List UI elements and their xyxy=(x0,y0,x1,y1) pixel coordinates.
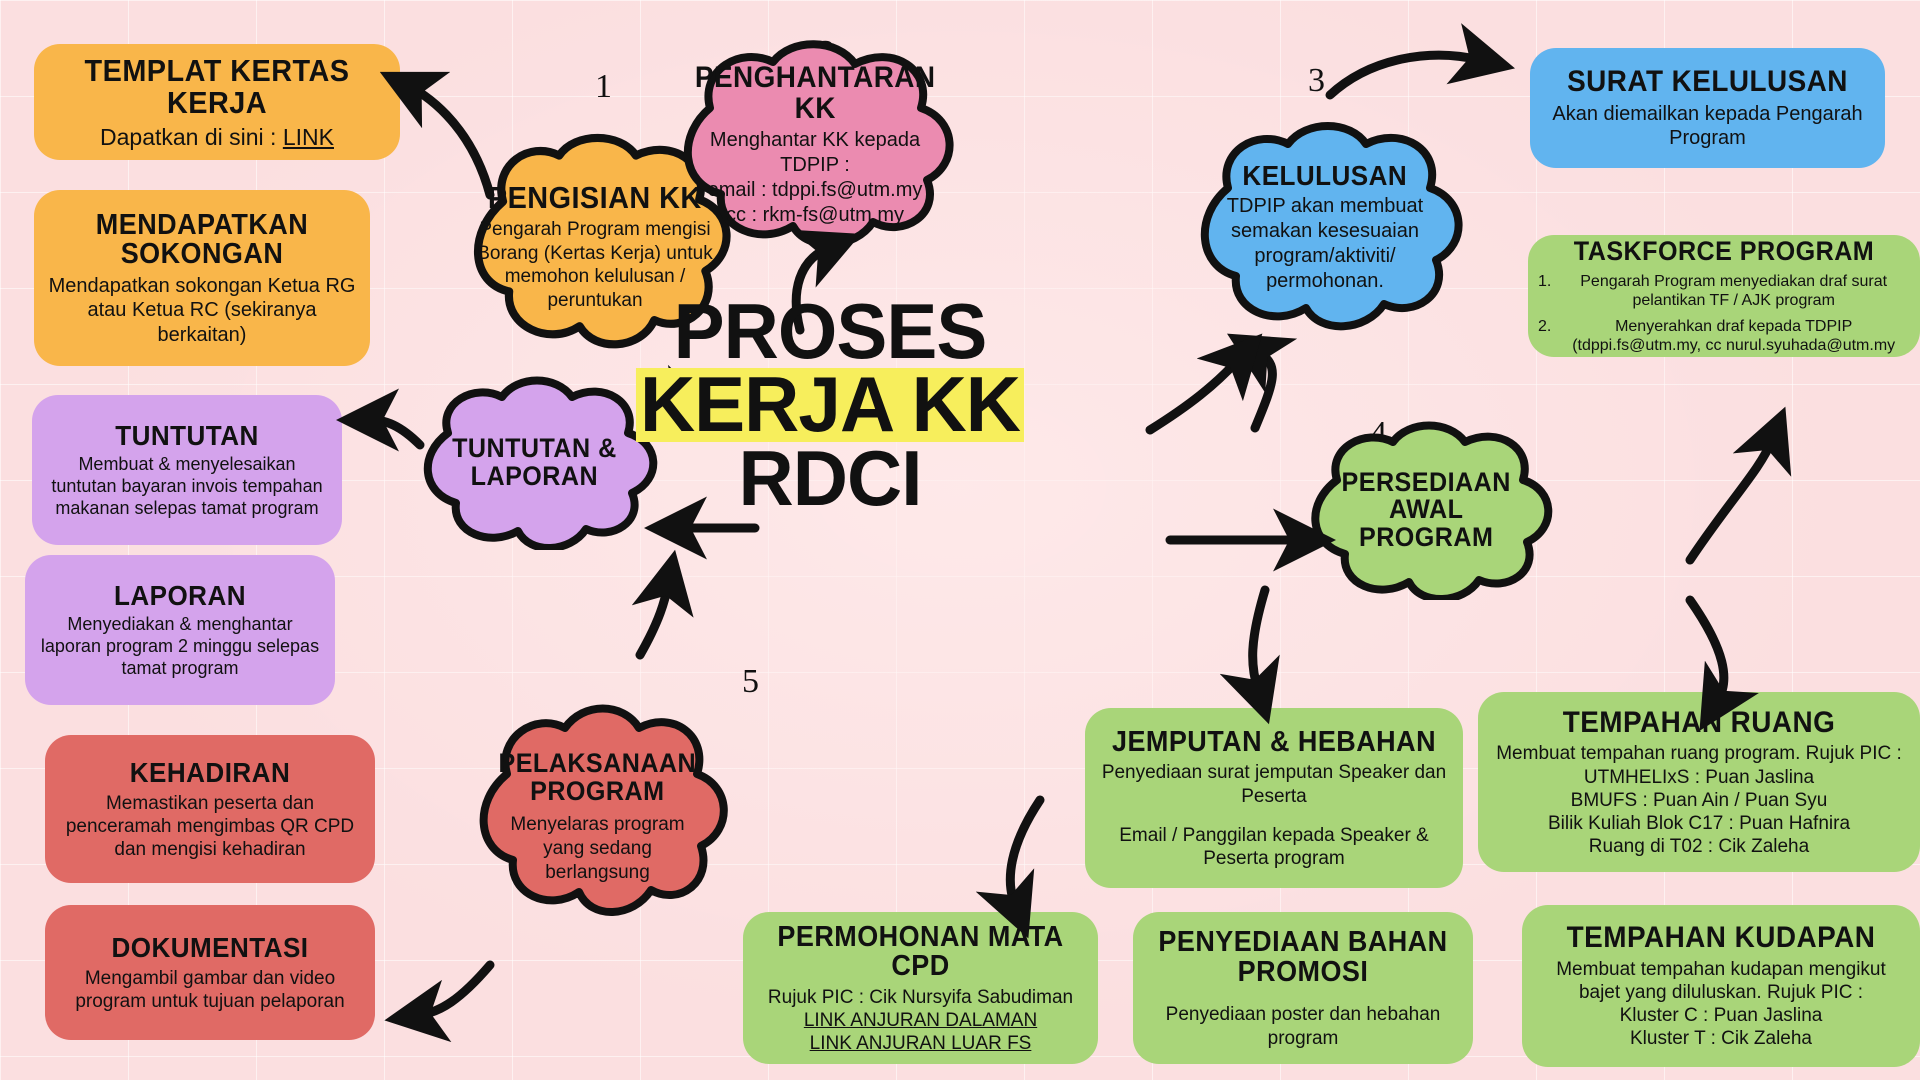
cloud-title: TUNTUTAN & LAPORAN xyxy=(438,435,630,490)
card-tempahan-kudapan: TEMPAHAN KUDAPAN Membuat tempahan kudapa… xyxy=(1522,905,1920,1067)
title-line-2: KERJA KK xyxy=(636,368,1024,441)
card-title: TEMPLAT KERTAS KERJA xyxy=(60,55,374,118)
list-text: Pengarah Program menyediakan draf surat … xyxy=(1557,272,1910,311)
card-body: Membuat tempahan kudapan mengikut bajet … xyxy=(1536,958,1906,1051)
card-jemputan-hebahan: JEMPUTAN & HEBAHAN Penyediaan surat jemp… xyxy=(1085,708,1463,888)
card-body: Dapatkan di sini : LINK xyxy=(48,123,386,151)
templat-link[interactable]: LINK xyxy=(283,124,334,150)
card-body: Menyediakan & menghantar laporan program… xyxy=(39,614,321,680)
card-body: Membuat tempahan ruang program. Rujuk PI… xyxy=(1492,742,1906,858)
card-title: TASKFORCE PROGRAM xyxy=(1551,238,1897,266)
list-text: Menyerahkan draf kepada TDPIP (tdppi.fs@… xyxy=(1557,317,1910,356)
step-number-3: 3 xyxy=(1308,62,1325,100)
step-number-1: 1 xyxy=(595,68,612,106)
cloud-kelulusan: KELULUSAN TDPIP akan membuat semakan kes… xyxy=(1170,118,1480,338)
card-body: Membuat & menyelesaikan tuntutan bayaran… xyxy=(46,454,328,520)
card-body-text: Dapatkan di sini : xyxy=(100,124,283,150)
card-body: Mengambil gambar dan video program untuk… xyxy=(59,967,361,1013)
card-body-1: Penyediaan surat jemputan Speaker dan Pe… xyxy=(1099,761,1449,807)
title-line-3: RDCI xyxy=(624,442,1036,515)
taskforce-item-1: 1. Pengarah Program menyediakan draf sur… xyxy=(1538,272,1910,311)
cloud-body: Menghantar KK kepada TDPIP : email : tdp… xyxy=(684,128,946,228)
cloud-title: PELAKSANAAN PROGRAM xyxy=(497,750,698,805)
card-title: TEMPAHAN KUDAPAN xyxy=(1549,923,1893,954)
cloud-title: KELULUSAN xyxy=(1215,162,1434,191)
cloud-penghantaran-kk: PENGHANTARAN KK Menghantar KK kepada TDP… xyxy=(655,38,975,253)
card-title: JEMPUTAN & HEBAHAN xyxy=(1111,728,1437,758)
card-tempahan-ruang: TEMPAHAN RUANG Membuat tempahan ruang pr… xyxy=(1478,692,1920,872)
card-templat-kertas-kerja: TEMPLAT KERTAS KERJA Dapatkan di sini : … xyxy=(34,44,400,160)
cloud-body: Menyelaras program yang sedang berlangsu… xyxy=(489,813,706,884)
card-body: Rujuk PIC : Cik Nursyifa Sabudiman xyxy=(757,986,1084,1009)
card-title: SURAT KELULUSAN xyxy=(1555,67,1859,98)
list-number: 1. xyxy=(1538,272,1551,311)
cloud-title: PERSEDIAAN AWAL PROGRAM xyxy=(1326,469,1525,552)
card-title: TUNTUTAN xyxy=(56,422,318,451)
card-tuntutan: TUNTUTAN Membuat & menyelesaikan tuntuta… xyxy=(32,395,342,545)
taskforce-item-2: 2. Menyerahkan draf kepada TDPIP (tdppi.… xyxy=(1538,317,1910,356)
card-body: Mendapatkan sokongan Ketua RG atau Ketua… xyxy=(48,274,356,347)
cloud-title: PENGHANTARAN KK xyxy=(693,63,937,124)
card-dokumentasi: DOKUMENTASI Mengambil gambar dan video p… xyxy=(45,905,375,1040)
card-penyediaan-bahan-promosi: PENYEDIAAN BAHAN PROMOSI Penyediaan post… xyxy=(1133,912,1473,1064)
cloud-persediaan-awal-program: PERSEDIAAN AWAL PROGRAM xyxy=(1285,420,1567,600)
card-body-2: Email / Panggilan kepada Speaker & Peser… xyxy=(1099,824,1449,870)
cloud-pelaksanaan-program: PELAKSANAAN PROGRAM Menyelaras program y… xyxy=(455,700,740,935)
title-line-2-wrap: KERJA KK xyxy=(624,368,1036,441)
card-mendapatkan-sokongan: MENDAPATKAN SOKONGAN Mendapatkan sokonga… xyxy=(34,190,370,366)
card-title: PERMOHONAN MATA CPD xyxy=(768,923,1072,982)
card-body: Penyediaan poster dan hebahan program xyxy=(1147,1003,1459,1049)
card-kehadiran: KEHADIRAN Memastikan peserta dan pencera… xyxy=(45,735,375,883)
cloud-body: TDPIP akan membuat semakan kesesuaian pr… xyxy=(1207,194,1443,294)
card-title: MENDAPATKAN SOKONGAN xyxy=(59,211,345,270)
card-taskforce-program: TASKFORCE PROGRAM 1. Pengarah Program me… xyxy=(1528,235,1920,357)
card-title: DOKUMENTASI xyxy=(70,934,351,963)
card-title: KEHADIRAN xyxy=(70,759,351,788)
card-body: Memastikan peserta dan penceramah mengim… xyxy=(59,792,361,862)
page-title: PROSES KERJA KK RDCI xyxy=(620,295,1040,515)
card-title: PENYEDIAAN BAHAN PROMOSI xyxy=(1158,928,1448,987)
card-permohonan-mata-cpd: PERMOHONAN MATA CPD Rujuk PIC : Cik Nurs… xyxy=(743,912,1098,1064)
title-line-1: PROSES xyxy=(624,295,1036,368)
card-title: LAPORAN xyxy=(49,582,311,611)
card-body: Akan diemailkan kepada Pengarah Program xyxy=(1544,102,1871,151)
step-number-5: 5 xyxy=(742,663,759,701)
card-title: TEMPAHAN RUANG xyxy=(1506,708,1891,739)
cpd-link-dalaman[interactable]: LINK ANJURAN DALAMAN xyxy=(757,1009,1084,1032)
list-number: 2. xyxy=(1538,317,1551,356)
card-surat-kelulusan: SURAT KELULUSAN Akan diemailkan kepada P… xyxy=(1530,48,1885,168)
cpd-link-luar[interactable]: LINK ANJURAN LUAR FS xyxy=(757,1032,1084,1055)
card-laporan: LAPORAN Menyediakan & menghantar laporan… xyxy=(25,555,335,705)
